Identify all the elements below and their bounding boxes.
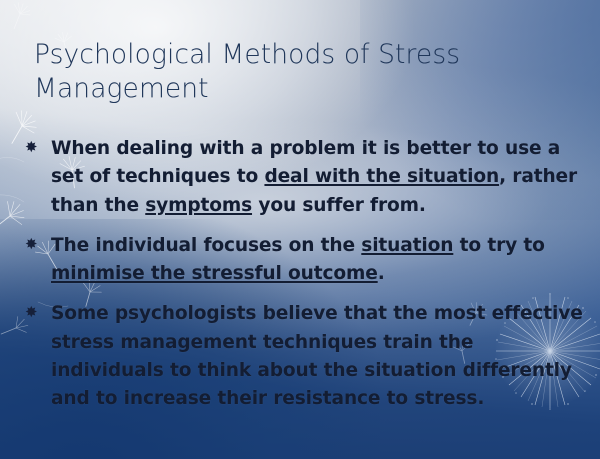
eight-pointed-star-bullet-icon: ✸ bbox=[20, 135, 51, 159]
bullet-text-1: When dealing with a problem it is better… bbox=[51, 135, 586, 220]
slide-canvas: Psychological Methods of Stress Manageme… bbox=[0, 0, 600, 459]
list-item: ✸ The individual focuses on the situatio… bbox=[20, 232, 586, 289]
bullet-text-3: Some psychologists believe that the most… bbox=[51, 300, 586, 413]
list-item: ✸ When dealing with a problem it is bett… bbox=[20, 135, 586, 220]
bullet-text-2: The individual focuses on the situation … bbox=[51, 232, 586, 289]
page-title: Psychological Methods of Stress Manageme… bbox=[34, 38, 554, 106]
bullet-list: ✸ When dealing with a problem it is bett… bbox=[20, 135, 586, 425]
eight-pointed-star-bullet-icon: ✸ bbox=[20, 300, 51, 324]
eight-pointed-star-bullet-icon: ✸ bbox=[20, 232, 51, 256]
list-item: ✸ Some psychologists believe that the mo… bbox=[20, 300, 586, 413]
